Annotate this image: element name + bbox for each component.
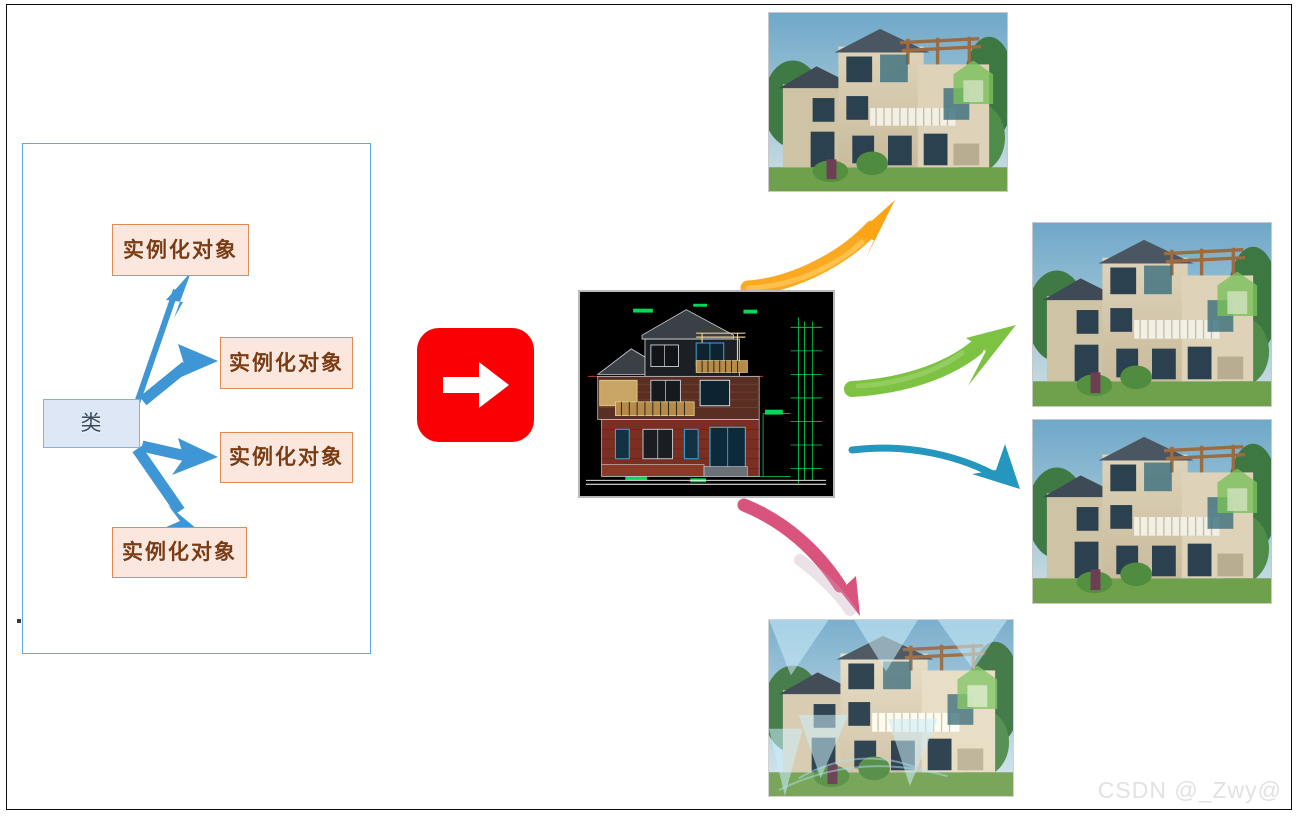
- arrow-right-glyph: [439, 357, 513, 413]
- villa-render-bottom: [768, 619, 1014, 797]
- instance-box-4[interactable]: 实例化对象: [112, 527, 247, 578]
- villa-render-right-lower: [1032, 419, 1272, 604]
- csdn-watermark: CSDN @_Zwy@: [1098, 777, 1282, 804]
- villa-render-top: [768, 12, 1008, 192]
- orange-arrow: [748, 200, 895, 288]
- pink-arrow: [744, 505, 860, 616]
- class-box[interactable]: 类: [43, 399, 140, 448]
- red-arrow-right-icon: [417, 328, 534, 442]
- diagram-canvas: 类 实例化对象 实例化对象 实例化对象 实例化对象: [0, 0, 1298, 818]
- stray-dot-marker: [17, 619, 21, 623]
- villa-render-art: [1033, 420, 1271, 603]
- teal-arrow: [852, 444, 1020, 489]
- green-arrow: [852, 325, 1016, 389]
- instance-box-3[interactable]: 实例化对象: [220, 432, 353, 483]
- instance-box-1[interactable]: 实例化对象: [112, 224, 249, 276]
- villa-render-art: [769, 620, 1013, 796]
- villa-render-art: [1033, 223, 1271, 406]
- instance-box-2[interactable]: 实例化对象: [220, 337, 353, 389]
- villa-render-right-upper: [1032, 222, 1272, 407]
- villa-render-art: [769, 13, 1007, 191]
- cad-blueprint-image: [578, 290, 835, 498]
